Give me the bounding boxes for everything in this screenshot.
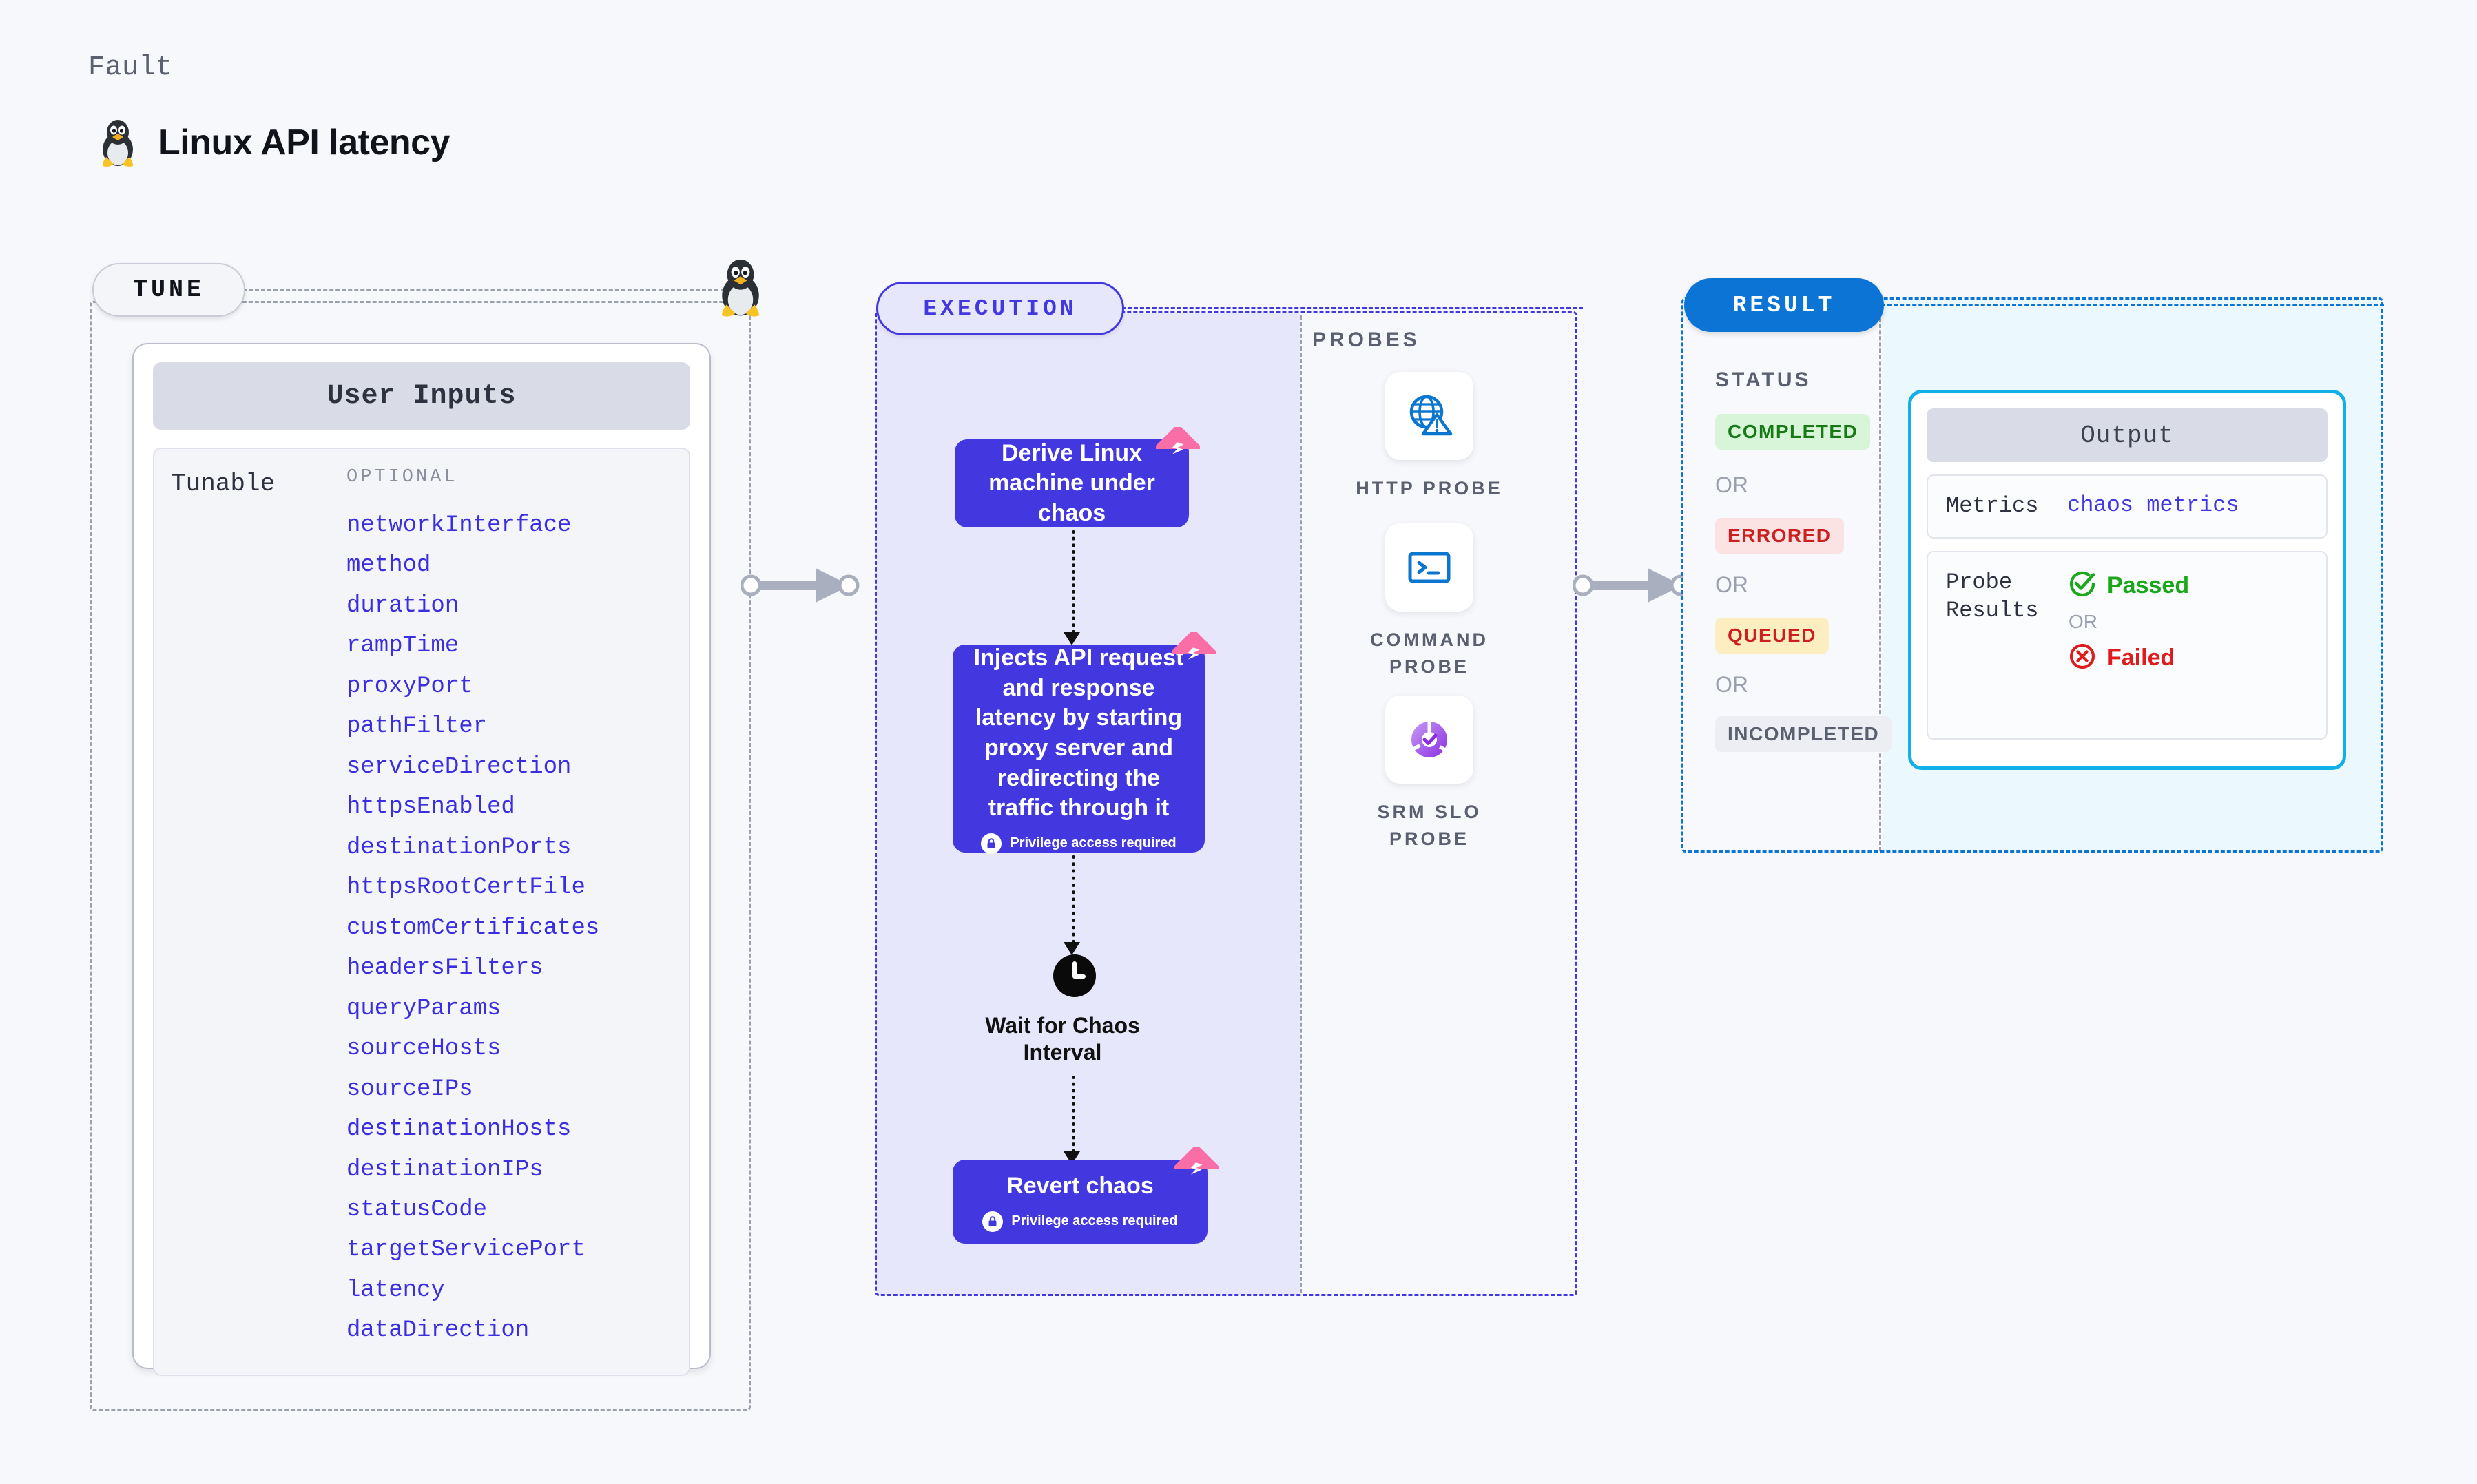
- tunable-item[interactable]: httpsRootCertFile: [346, 868, 672, 908]
- probe-results-key-label: Probe Results: [1946, 569, 2067, 722]
- tunable-item-list: OPTIONAL networkInterface method duratio…: [346, 467, 672, 1351]
- probe-label: SRM SLO PROBE: [1350, 799, 1509, 853]
- status-badge-errored: ERRORED: [1715, 518, 1844, 554]
- execution-node-label: Revert chaos: [1006, 1171, 1154, 1202]
- metrics-value-link[interactable]: chaos metrics: [2067, 492, 2239, 521]
- or-separator: OR: [1715, 472, 1748, 498]
- output-card: Output Metrics chaos metrics Probe Resul…: [1908, 390, 2346, 770]
- page-kicker: Fault: [88, 52, 173, 83]
- probe-label: COMMAND PROBE: [1350, 627, 1509, 680]
- tunable-item[interactable]: targetServicePort: [346, 1230, 672, 1270]
- privilege-required-label: Privilege access required: [1011, 1213, 1177, 1231]
- user-inputs-card: User Inputs Tunable OPTIONAL networkInte…: [132, 343, 711, 1369]
- privilege-required-note: Privilege access required: [981, 833, 1176, 854]
- tunable-item[interactable]: sourceIPs: [346, 1069, 672, 1109]
- execution-connector-line: [1121, 307, 1583, 309]
- tune-connector-line: [242, 289, 725, 291]
- result-phase-badge[interactable]: RESULT: [1684, 278, 1884, 332]
- wait-node-label: Wait for Chaos Interval: [984, 1012, 1142, 1066]
- check-circle-icon: [2067, 569, 2097, 603]
- x-circle-icon: [2067, 641, 2097, 675]
- execution-node-label: Injects API request and response latency…: [971, 643, 1187, 823]
- tunable-item[interactable]: destinationIPs: [346, 1150, 672, 1190]
- linux-tux-penguin-icon: [96, 117, 139, 168]
- tunable-item[interactable]: queryParams: [346, 989, 672, 1029]
- privilege-required-label: Privilege access required: [1010, 835, 1176, 853]
- status-section-label: STATUS: [1715, 368, 1812, 392]
- tunable-item[interactable]: method: [346, 545, 672, 585]
- or-separator: OR: [1715, 572, 1748, 598]
- privilege-required-note: Privilege access required: [982, 1211, 1177, 1232]
- probes-section-label: PROBES: [1312, 328, 1420, 352]
- probe-result-failed: Failed: [2067, 641, 2189, 675]
- chaos-flag-icon: [1172, 632, 1216, 676]
- status-badge-completed: COMPLETED: [1715, 414, 1870, 450]
- tunable-item[interactable]: headersFilters: [346, 948, 672, 988]
- output-row-probe-results: Probe Results Passed OR: [1927, 551, 2328, 740]
- or-separator: OR: [2069, 611, 2189, 633]
- tunable-item[interactable]: sourceHosts: [346, 1029, 672, 1069]
- chaos-flag-icon: [1174, 1147, 1219, 1191]
- execution-node-label: Derive Linux machine under chaos: [973, 439, 1171, 529]
- execution-node-revert-chaos[interactable]: Revert chaos Privilege access required: [953, 1160, 1208, 1244]
- page-title-row: Linux API latency: [96, 117, 450, 168]
- or-separator: OR: [1715, 672, 1748, 698]
- status-badge-incompleted: INCOMPLETED: [1715, 716, 1892, 752]
- tunable-item[interactable]: rampTime: [346, 626, 672, 666]
- linux-tux-penguin-icon: [713, 256, 768, 318]
- probe-result-passed: Passed: [2067, 569, 2189, 603]
- tunable-item[interactable]: latency: [346, 1271, 672, 1310]
- tunable-item[interactable]: dataDirection: [346, 1310, 672, 1350]
- probe-label: HTTP PROBE: [1356, 475, 1503, 502]
- tunable-item[interactable]: destinationPorts: [346, 828, 672, 868]
- probe-results-values: Passed OR Failed: [2067, 569, 2189, 722]
- tunable-item[interactable]: serviceDirection: [346, 747, 672, 787]
- optional-label: OPTIONAL: [346, 467, 672, 488]
- slo-donut-check-icon: [1385, 696, 1473, 784]
- output-row-metrics: Metrics chaos metrics: [1927, 474, 2328, 539]
- tunable-item[interactable]: networkInterface: [346, 505, 672, 545]
- metrics-key-label: Metrics: [1946, 492, 2067, 521]
- user-inputs-title: User Inputs: [153, 362, 690, 430]
- flow-arrow-line: [1072, 1076, 1075, 1153]
- flow-arrow-line: [1072, 855, 1075, 943]
- execution-node-derive[interactable]: Derive Linux machine under chaos: [955, 439, 1189, 527]
- tunable-item[interactable]: httpsEnabled: [346, 787, 672, 827]
- tune-to-execution-connector: [741, 561, 879, 613]
- status-badge-queued: QUEUED: [1715, 618, 1829, 654]
- lock-icon: [981, 833, 1002, 854]
- execution-probes-divider: [1300, 315, 1302, 1293]
- failed-label: Failed: [2107, 645, 2175, 671]
- probe-http[interactable]: HTTP PROBE: [1350, 372, 1509, 502]
- execution-node-inject-latency[interactable]: Injects API request and response latency…: [953, 645, 1205, 853]
- tunable-item[interactable]: destinationHosts: [346, 1109, 672, 1149]
- tunable-item[interactable]: proxyPort: [346, 667, 672, 707]
- wait-for-chaos-interval-node: Wait for Chaos Interval: [1019, 954, 1130, 1066]
- tunable-item[interactable]: pathFilter: [346, 707, 672, 746]
- execution-phase-badge[interactable]: EXECUTION: [876, 282, 1124, 335]
- page-title: Linux API latency: [158, 122, 450, 163]
- passed-label: Passed: [2107, 572, 2189, 599]
- tunable-panel: Tunable OPTIONAL networkInterface method…: [153, 448, 690, 1376]
- globe-warning-icon: [1385, 372, 1473, 460]
- clock-icon: [1053, 954, 1097, 1001]
- tune-phase-badge[interactable]: TUNE: [92, 263, 245, 317]
- probe-command[interactable]: COMMAND PROBE: [1350, 523, 1509, 680]
- tunable-item[interactable]: customCertificates: [346, 908, 672, 948]
- chaos-flag-icon: [1156, 427, 1200, 471]
- tunable-item[interactable]: duration: [346, 586, 672, 626]
- lock-icon: [982, 1211, 1003, 1232]
- probe-srm-slo[interactable]: SRM SLO PROBE: [1350, 696, 1509, 853]
- tunable-item[interactable]: statusCode: [346, 1190, 672, 1230]
- tunable-group-label: Tunable: [171, 467, 346, 1351]
- output-card-title: Output: [1927, 408, 2328, 462]
- flow-arrow-line: [1072, 530, 1075, 634]
- result-connector-line: [1881, 304, 2384, 306]
- terminal-icon: [1385, 523, 1473, 612]
